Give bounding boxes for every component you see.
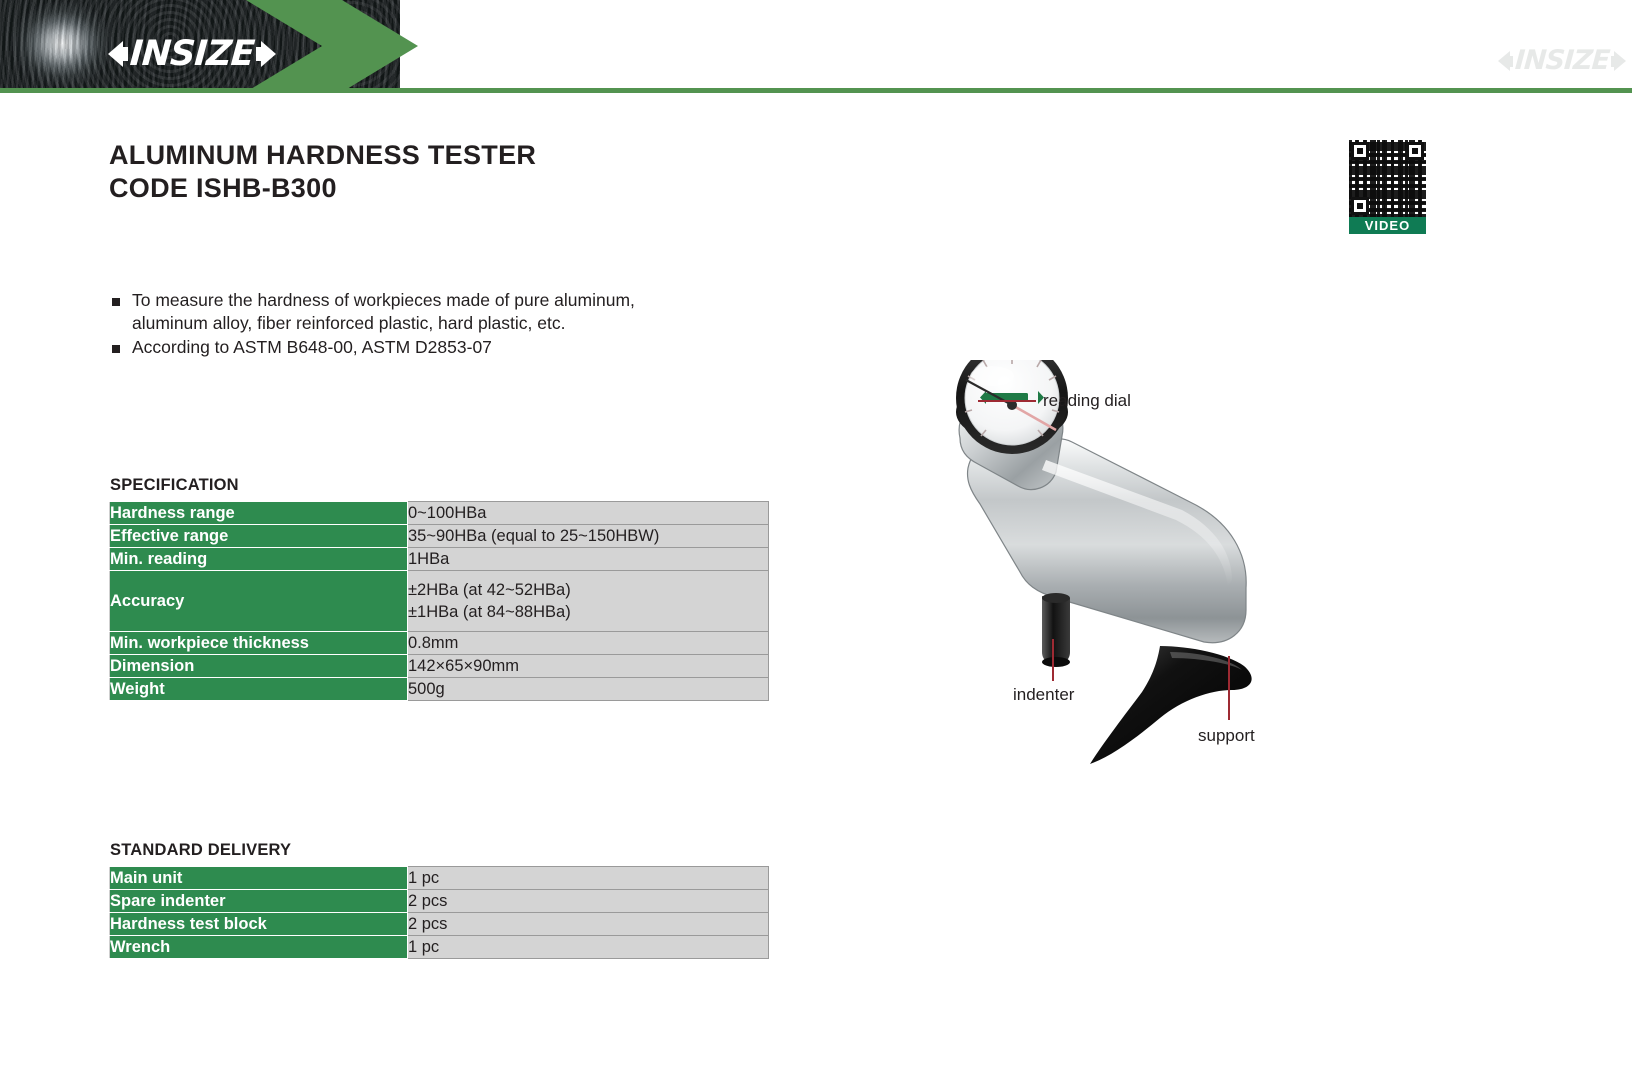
standard-delivery-heading: STANDARD DELIVERY <box>110 841 291 860</box>
spec-label: Dimension <box>110 655 408 678</box>
dial-glass-reflection <box>970 366 1014 386</box>
leader-line-reading-dial <box>978 400 1036 402</box>
table-row: Hardness range 0~100HBa <box>110 502 769 525</box>
delivery-label: Wrench <box>110 936 408 959</box>
spec-label: Min. workpiece thickness <box>110 632 408 655</box>
delivery-value: 2 pcs <box>408 913 769 936</box>
table-row: Min. workpiece thickness 0.8mm <box>110 632 769 655</box>
leader-line-support <box>1228 656 1230 720</box>
feature-text: To measure the hardness of workpieces ma… <box>132 289 635 335</box>
watermark-right-arrow-icon <box>1614 51 1626 71</box>
hardness-tester-illustration <box>860 360 1420 780</box>
product-code: CODE ISHB-B300 <box>109 172 536 205</box>
table-row: Main unit 1 pc <box>110 867 769 890</box>
callout-label-support: support <box>1198 726 1255 746</box>
spec-value: 35~90HBa (equal to 25~150HBW) <box>408 525 769 548</box>
specification-table: Hardness range 0~100HBa Effective range … <box>109 501 769 701</box>
delivery-label: Hardness test block <box>110 913 408 936</box>
page-title: ALUMINUM HARDNESS TESTER CODE ISHB-B300 <box>109 139 536 205</box>
qr-finder-bottom-left-icon <box>1351 197 1369 215</box>
standard-delivery-table: Main unit 1 pc Spare indenter 2 pcs Hard… <box>109 866 769 959</box>
video-badge-label: VIDEO <box>1365 218 1410 233</box>
table-row: Hardness test block 2 pcs <box>110 913 769 936</box>
feature-text: According to ASTM B648-00, ASTM D2853-07 <box>132 336 492 359</box>
insize-logo: INSIZE <box>108 36 276 72</box>
delivery-label: Main unit <box>110 867 408 890</box>
logo-wordmark: INSIZE <box>127 37 257 71</box>
callout-label-reading-dial: reading dial <box>1043 391 1131 411</box>
table-row: Spare indenter 2 pcs <box>110 890 769 913</box>
indenter-stem <box>1042 596 1070 664</box>
delivery-value: 1 pc <box>408 867 769 890</box>
video-badge[interactable]: VIDEO <box>1349 217 1426 234</box>
callout-label-indenter: indenter <box>1013 685 1074 705</box>
table-row: Dimension 142×65×90mm <box>110 655 769 678</box>
qr-finder-top-left-icon <box>1351 142 1369 160</box>
spec-value: 500g <box>408 678 769 701</box>
table-row: Accuracy ±2HBa (at 42~52HBa) ±1HBa (at 8… <box>110 571 769 632</box>
delivery-value: 1 pc <box>408 936 769 959</box>
list-item: To measure the hardness of workpieces ma… <box>110 289 810 335</box>
table-row: Min. reading 1HBa <box>110 548 769 571</box>
spec-value: ±2HBa (at 42~52HBa) ±1HBa (at 84~88HBa) <box>408 571 769 632</box>
specification-heading: SPECIFICATION <box>110 476 239 495</box>
product-photo <box>860 360 1420 780</box>
spec-label: Accuracy <box>110 571 408 632</box>
delivery-value: 2 pcs <box>408 890 769 913</box>
table-row: Wrench 1 pc <box>110 936 769 959</box>
feature-list: To measure the hardness of workpieces ma… <box>110 289 810 360</box>
product-name: ALUMINUM HARDNESS TESTER <box>109 139 536 172</box>
spec-label: Effective range <box>110 525 408 548</box>
logo-right-arrow-icon <box>261 41 276 67</box>
qr-finder-top-right-icon <box>1406 142 1424 160</box>
table-row: Weight 500g <box>110 678 769 701</box>
indenter-collar <box>1042 593 1070 603</box>
spec-value: 1HBa <box>408 548 769 571</box>
page-header: INSIZE INSIZE <box>0 0 1632 96</box>
delivery-label: Spare indenter <box>110 890 408 913</box>
spec-label: Hardness range <box>110 502 408 525</box>
spec-value: 142×65×90mm <box>408 655 769 678</box>
insize-logo-watermark: INSIZE <box>1498 46 1626 76</box>
spec-label: Min. reading <box>110 548 408 571</box>
bullet-square-icon <box>112 298 120 306</box>
list-item: According to ASTM B648-00, ASTM D2853-07 <box>110 336 810 359</box>
spec-label: Weight <box>110 678 408 701</box>
spec-value: 0~100HBa <box>408 502 769 525</box>
leader-line-indenter <box>1052 639 1054 681</box>
watermark-wordmark: INSIZE <box>1512 48 1612 74</box>
qr-code-icon[interactable] <box>1349 140 1426 217</box>
table-row: Effective range 35~90HBa (equal to 25~15… <box>110 525 769 548</box>
indenter-tip <box>1042 657 1070 667</box>
video-qr-block[interactable]: VIDEO <box>1349 140 1426 234</box>
datasheet-page: INSIZE INSIZE ALUMINUM HARDNESS TESTER C… <box>0 0 1632 1071</box>
header-green-rule <box>0 88 1632 93</box>
bullet-square-icon <box>112 345 120 353</box>
spec-value: 0.8mm <box>408 632 769 655</box>
